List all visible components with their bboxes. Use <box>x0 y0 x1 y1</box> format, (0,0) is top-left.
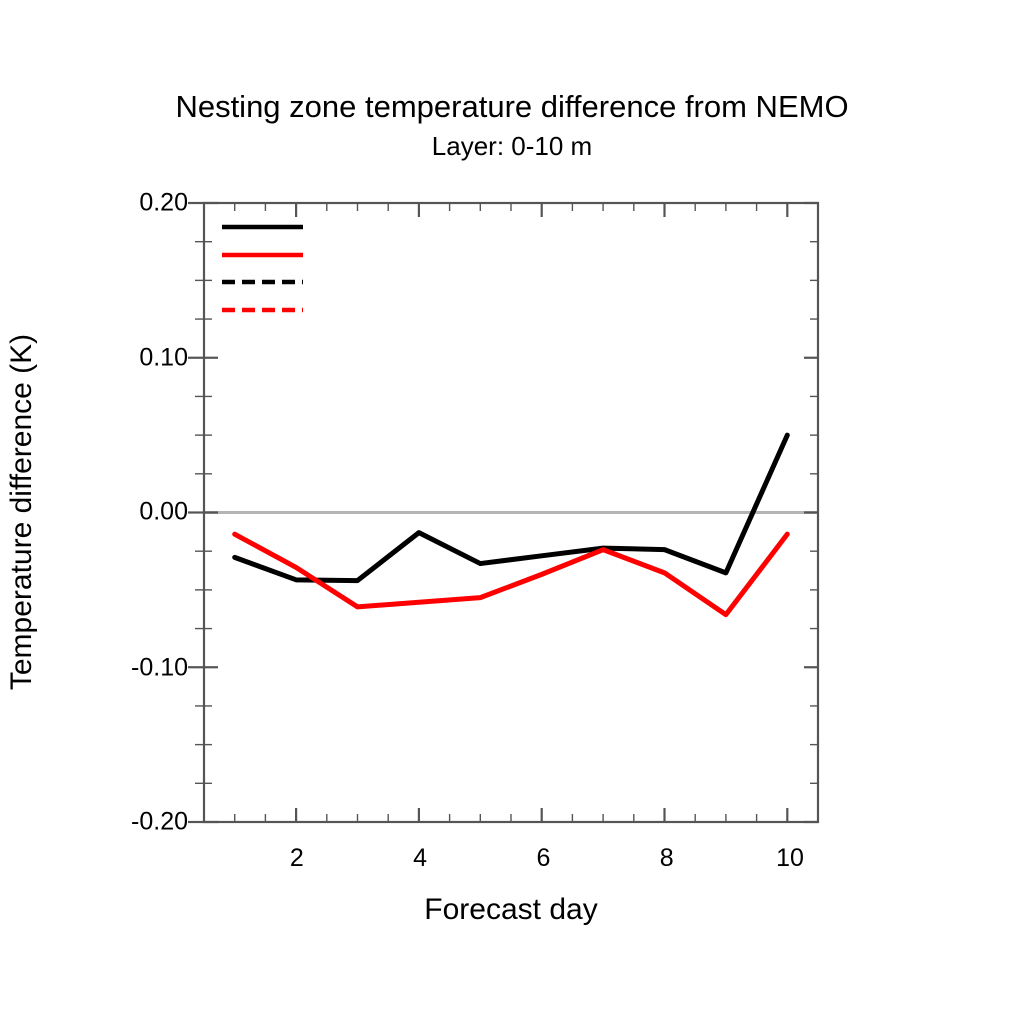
plot-canvas <box>0 0 1024 1024</box>
chart-figure: Nesting zone temperature difference from… <box>0 0 1024 1024</box>
